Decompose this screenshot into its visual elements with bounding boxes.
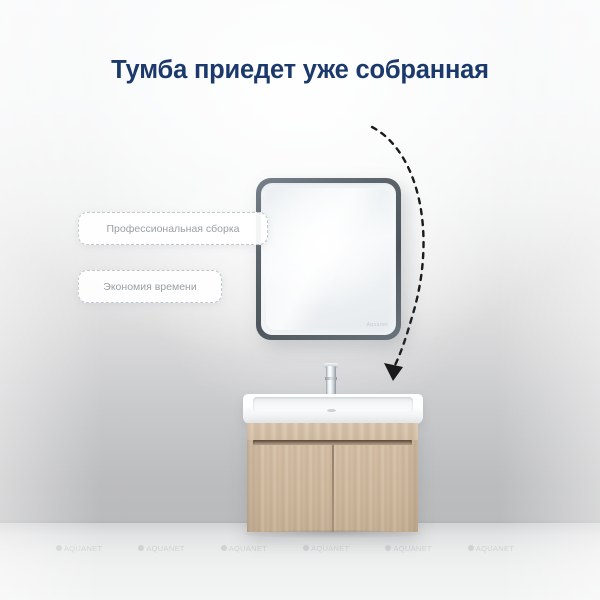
cabinet-door-seam xyxy=(332,445,334,532)
vanity-cabinet xyxy=(247,423,418,532)
mirror-brand-logo: Aquanet xyxy=(367,322,388,328)
product-banner: Тумба приедет уже собранная Aquanet Проф… xyxy=(0,0,600,600)
washbasin xyxy=(243,394,423,424)
bathroom-mirror: Aquanet xyxy=(256,178,401,340)
cabinet-top-panel xyxy=(247,423,418,440)
washbasin-drain xyxy=(327,409,336,412)
cabinet-drop-shadow xyxy=(243,530,422,538)
page-title: Тумба приедет уже собранная xyxy=(100,56,500,86)
mirror-glass xyxy=(261,183,396,335)
faucet-ring-detail xyxy=(325,377,337,380)
feature-badge-professional-assembly: Профессиональная сборка xyxy=(78,212,268,245)
feature-badge-time-saving: Экономия времени xyxy=(78,270,222,303)
